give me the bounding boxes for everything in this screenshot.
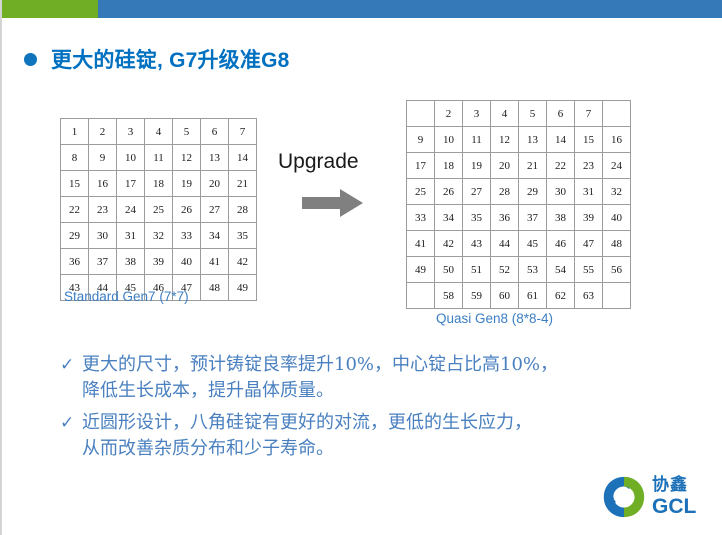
- ingot-cell: 48: [603, 231, 631, 257]
- ingot-cell: 59: [463, 283, 491, 309]
- table-row: 234567: [407, 101, 631, 127]
- ingot-cell: 16: [603, 127, 631, 153]
- ingot-cell: 23: [575, 153, 603, 179]
- ingot-cell: 39: [145, 249, 173, 275]
- ingot-cell: 6: [547, 101, 575, 127]
- ingot-cell: 56: [603, 257, 631, 283]
- gcl-logo-latin: GCL: [652, 496, 696, 517]
- ingot-cell: 3: [463, 101, 491, 127]
- ingot-cell: 40: [173, 249, 201, 275]
- table-row: 22232425262728: [61, 197, 257, 223]
- ingot-cell: 37: [89, 249, 117, 275]
- ingot-cell: 63: [575, 283, 603, 309]
- slide-title-text: 更大的硅锭, G7升级准G8: [51, 44, 290, 74]
- ingot-cell: 54: [547, 257, 575, 283]
- ingot-cell: 25: [145, 197, 173, 223]
- ingot-cell: 29: [519, 179, 547, 205]
- ingot-cell: 49: [407, 257, 435, 283]
- ingot-cell: 6: [201, 119, 229, 145]
- ingot-cell: 31: [575, 179, 603, 205]
- ingot-cell: 22: [61, 197, 89, 223]
- ingot-cell: 28: [491, 179, 519, 205]
- table-row: 4950515253545556: [407, 257, 631, 283]
- ingot-cell: 51: [463, 257, 491, 283]
- ingot-cell: 44: [491, 231, 519, 257]
- ingot-cell: 12: [173, 145, 201, 171]
- ingot-cell: 18: [435, 153, 463, 179]
- ingot-cell: 35: [229, 223, 257, 249]
- ingot-cell: 13: [519, 127, 547, 153]
- table-row: 36373839404142: [61, 249, 257, 275]
- table-row: 15161718192021: [61, 171, 257, 197]
- list-item: ✓ 更大的尺寸，预计铸锭良率提升10%，中心锭占比高10%， 降低生长成本，提升…: [60, 352, 680, 404]
- ingot-cell: 11: [145, 145, 173, 171]
- ingot-cell: 3: [117, 119, 145, 145]
- ingot-cell: 8: [61, 145, 89, 171]
- ingot-cell: 2: [89, 119, 117, 145]
- ingot-cell: 43: [463, 231, 491, 257]
- ingot-cell: 42: [229, 249, 257, 275]
- ingot-cell: 32: [145, 223, 173, 249]
- ingot-cell: 38: [547, 205, 575, 231]
- bullet-line: 从而改善杂质分布和少子寿命。: [82, 436, 532, 462]
- ingot-cell: 53: [519, 257, 547, 283]
- ingot-cell: 50: [435, 257, 463, 283]
- gen8-grid: 2345679101112131415161718192021222324252…: [406, 100, 631, 309]
- ingot-cell: 23: [89, 197, 117, 223]
- gcl-logo-chinese: 协鑫: [652, 477, 696, 494]
- ingot-cell: 11: [463, 127, 491, 153]
- ingot-cell: 33: [173, 223, 201, 249]
- ingot-cell: 40: [603, 205, 631, 231]
- ingot-cell: 58: [435, 283, 463, 309]
- ingot-cell: 15: [575, 127, 603, 153]
- bullet-text-block: 近圆形设计，八角硅锭有更好的对流，更低的生长应力， 从而改善杂质分布和少子寿命。: [82, 410, 532, 462]
- ingot-cell: 27: [201, 197, 229, 223]
- ingot-cell: 21: [519, 153, 547, 179]
- ingot-cell: 49: [229, 275, 257, 301]
- ingot-cell: 21: [229, 171, 257, 197]
- ingot-cell: 20: [491, 153, 519, 179]
- ingot-cell: 41: [407, 231, 435, 257]
- ingot-cell: 55: [575, 257, 603, 283]
- title-bullet-icon: [24, 53, 37, 66]
- ingot-cell: 34: [435, 205, 463, 231]
- table-row: 891011121314: [61, 145, 257, 171]
- bullet-list: ✓ 更大的尺寸，预计铸锭良率提升10%，中心锭占比高10%， 降低生长成本，提升…: [60, 352, 680, 468]
- ingot-cell: 19: [463, 153, 491, 179]
- ingot-cell: 33: [407, 205, 435, 231]
- ingot-cell: 19: [173, 171, 201, 197]
- ingot-cell: 62: [547, 283, 575, 309]
- ingot-cell: 14: [229, 145, 257, 171]
- ingot-cell: 10: [117, 145, 145, 171]
- ingot-cell: 22: [547, 153, 575, 179]
- gcl-logo-text: 协鑫 GCL: [652, 477, 696, 517]
- bullet-line: 近圆形设计，八角硅锭有更好的对流，更低的生长应力，: [82, 410, 532, 436]
- ingot-corner-cut: [407, 101, 435, 127]
- slide-canvas: 更大的硅锭, G7升级准G8 1234567891011121314151617…: [0, 0, 722, 535]
- ingot-cell: 31: [117, 223, 145, 249]
- ingot-cell: 30: [547, 179, 575, 205]
- ingot-cell: 36: [491, 205, 519, 231]
- bullet-line: 更大的尺寸，预计铸锭良率提升10%，中心锭占比高10%，: [82, 352, 558, 378]
- ingot-cell: 17: [117, 171, 145, 197]
- table-row: 1718192021222324: [407, 153, 631, 179]
- gen8-caption: Quasi Gen8 (8*8-4): [436, 311, 553, 326]
- table-row: 910111213141516: [407, 127, 631, 153]
- ingot-cell: 41: [201, 249, 229, 275]
- gen8-diagram: 2345679101112131415161718192021222324252…: [406, 100, 631, 309]
- gen7-caption: Standard Gen7 (7*7): [64, 289, 189, 304]
- ingot-cell: 20: [201, 171, 229, 197]
- ingot-cell: 42: [435, 231, 463, 257]
- ingot-cell: 35: [463, 205, 491, 231]
- check-icon: ✓: [60, 410, 82, 436]
- ingot-cell: 46: [547, 231, 575, 257]
- ingot-cell: 60: [491, 283, 519, 309]
- ingot-cell: 9: [89, 145, 117, 171]
- bullet-text-block: 更大的尺寸，预计铸锭良率提升10%，中心锭占比高10%， 降低生长成本，提升晶体…: [82, 352, 558, 404]
- table-row: 3334353637383940: [407, 205, 631, 231]
- ingot-cell: 13: [201, 145, 229, 171]
- ingot-cell: 7: [575, 101, 603, 127]
- ingot-cell: 24: [603, 153, 631, 179]
- ingot-cell: 17: [407, 153, 435, 179]
- top-bar-blue-segment: [98, 0, 722, 18]
- table-row: 29303132333435: [61, 223, 257, 249]
- ingot-cell: 48: [201, 275, 229, 301]
- upgrade-arrow-icon: [302, 188, 364, 218]
- table-row: 2526272829303132: [407, 179, 631, 205]
- gcl-logo: 协鑫 GCL: [600, 468, 712, 526]
- slide-title: 更大的硅锭, G7升级准G8: [24, 44, 290, 74]
- table-row: 1234567: [61, 119, 257, 145]
- table-row: 585960616263: [407, 283, 631, 309]
- ingot-cell: 24: [117, 197, 145, 223]
- gen7-diagram: 1234567891011121314151617181920212223242…: [60, 118, 257, 301]
- ingot-cell: 38: [117, 249, 145, 275]
- top-accent-bar: [2, 0, 722, 18]
- ingot-cell: 47: [575, 231, 603, 257]
- ingot-cell: 10: [435, 127, 463, 153]
- top-bar-green-segment: [2, 0, 98, 18]
- ingot-corner-cut: [407, 283, 435, 309]
- ingot-cell: 25: [407, 179, 435, 205]
- ingot-cell: 1: [61, 119, 89, 145]
- ingot-cell: 28: [229, 197, 257, 223]
- ingot-cell: 61: [519, 283, 547, 309]
- ingot-cell: 39: [575, 205, 603, 231]
- ingot-cell: 4: [491, 101, 519, 127]
- ingot-cell: 12: [491, 127, 519, 153]
- ingot-cell: 36: [61, 249, 89, 275]
- upgrade-label: Upgrade: [278, 150, 359, 174]
- ingot-corner-cut: [603, 101, 631, 127]
- table-row: 4142434445464748: [407, 231, 631, 257]
- ingot-cell: 26: [435, 179, 463, 205]
- ingot-cell: 4: [145, 119, 173, 145]
- ingot-cell: 9: [407, 127, 435, 153]
- gcl-logo-mark-icon: [600, 473, 648, 521]
- ingot-cell: 15: [61, 171, 89, 197]
- ingot-cell: 27: [463, 179, 491, 205]
- ingot-cell: 52: [491, 257, 519, 283]
- ingot-cell: 34: [201, 223, 229, 249]
- gen7-grid: 1234567891011121314151617181920212223242…: [60, 118, 257, 301]
- ingot-cell: 32: [603, 179, 631, 205]
- ingot-cell: 30: [89, 223, 117, 249]
- ingot-cell: 7: [229, 119, 257, 145]
- ingot-cell: 14: [547, 127, 575, 153]
- bullet-line: 降低生长成本，提升晶体质量。: [82, 378, 558, 404]
- check-icon: ✓: [60, 352, 82, 378]
- ingot-corner-cut: [603, 283, 631, 309]
- ingot-cell: 26: [173, 197, 201, 223]
- ingot-cell: 5: [519, 101, 547, 127]
- ingot-cell: 16: [89, 171, 117, 197]
- ingot-cell: 5: [173, 119, 201, 145]
- ingot-cell: 29: [61, 223, 89, 249]
- ingot-cell: 45: [519, 231, 547, 257]
- ingot-cell: 18: [145, 171, 173, 197]
- list-item: ✓ 近圆形设计，八角硅锭有更好的对流，更低的生长应力， 从而改善杂质分布和少子寿…: [60, 410, 680, 462]
- ingot-cell: 2: [435, 101, 463, 127]
- ingot-cell: 37: [519, 205, 547, 231]
